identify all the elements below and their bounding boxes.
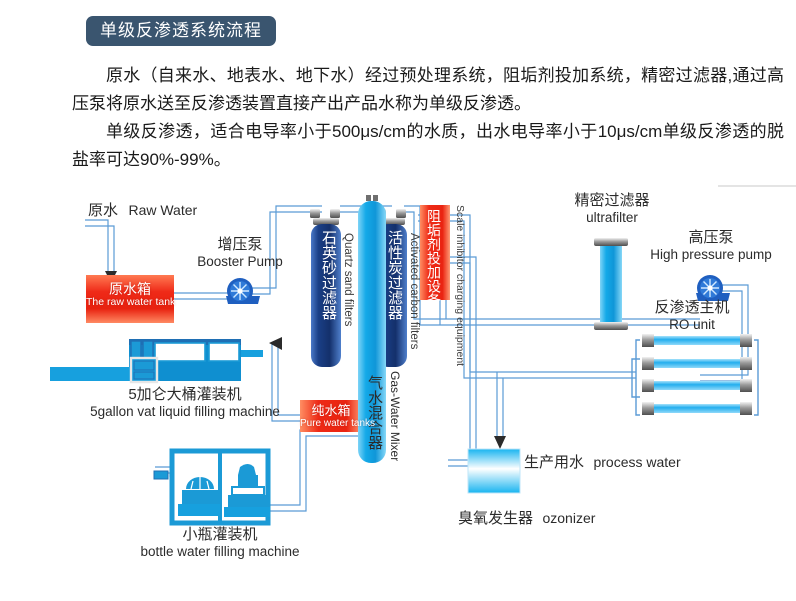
label-scale-inhibitor-en: Scale inhibitor charging equipment [454,205,466,366]
booster-pump-icon [226,278,260,304]
label-ultrafilter: 精密过滤器 ultrafilter [558,193,666,225]
label-activated-carbon-filter-en: Activated carbon filters [408,233,420,349]
process-flow-diagram: 原水 Raw Water 原水箱 The raw water tank 增压泵 … [0,175,796,601]
label-raw-water-tank: 原水箱 The raw water tank [86,282,174,309]
bottle-filling-machine [154,451,270,523]
ozonizer-body [468,449,520,493]
description-text: 原水（自来水、地表水、地下水）经过预处理系统，阻垢剂投加系统，精密过滤器,通过高… [72,62,784,174]
label-quartz-sand-filter-cn: 石英砂过滤器 [318,230,339,320]
label-ozonizer: 臭氧发生器 ozonizer [458,510,595,528]
label-raw-water: 原水 Raw Water [88,202,197,220]
label-ro-unit: 反渗透主机 RO unit [632,300,752,332]
label-activated-carbon-filter-cn: 活性炭过滤器 [384,230,405,320]
label-high-pressure-pump: 高压泵 High pressure pump [648,230,774,262]
paragraph-2: 单级反渗透，适合电导率小于500μs/cm的水质，出水电导率小于10μs/cm单… [72,118,784,174]
label-bottle-filling-machine: 小瓶灌装机 bottle water filling machine [120,527,320,559]
ultrafilter-vessel [594,238,628,330]
label-booster-pump: 增压泵 Booster Pump [186,237,294,269]
label-quartz-sand-filter-en: Quartz sand filters [342,233,354,326]
vat-filling-machine [50,339,263,382]
label-process-water: 生产用水 process water [524,454,681,472]
page-title-badge: 单级反渗透系统流程 [86,16,276,46]
paragraph-1: 原水（自来水、地表水、地下水）经过预处理系统，阻垢剂投加系统，精密过滤器,通过高… [72,62,784,118]
label-gas-water-mixer-en: Gas-Water Mixer [388,371,402,461]
high-pressure-pump-icon [696,275,730,301]
label-pure-water-tank: 纯水箱 Pure water tanks [300,404,362,429]
label-gas-water-mixer-cn: 气水混合器 [364,375,385,450]
label-scale-inhibitor-cn: 阻垢剂投加设备 [424,209,444,307]
label-vat-filling-machine: 5加仑大桶灌装机 5gallon vat liquid filling mach… [70,387,300,419]
